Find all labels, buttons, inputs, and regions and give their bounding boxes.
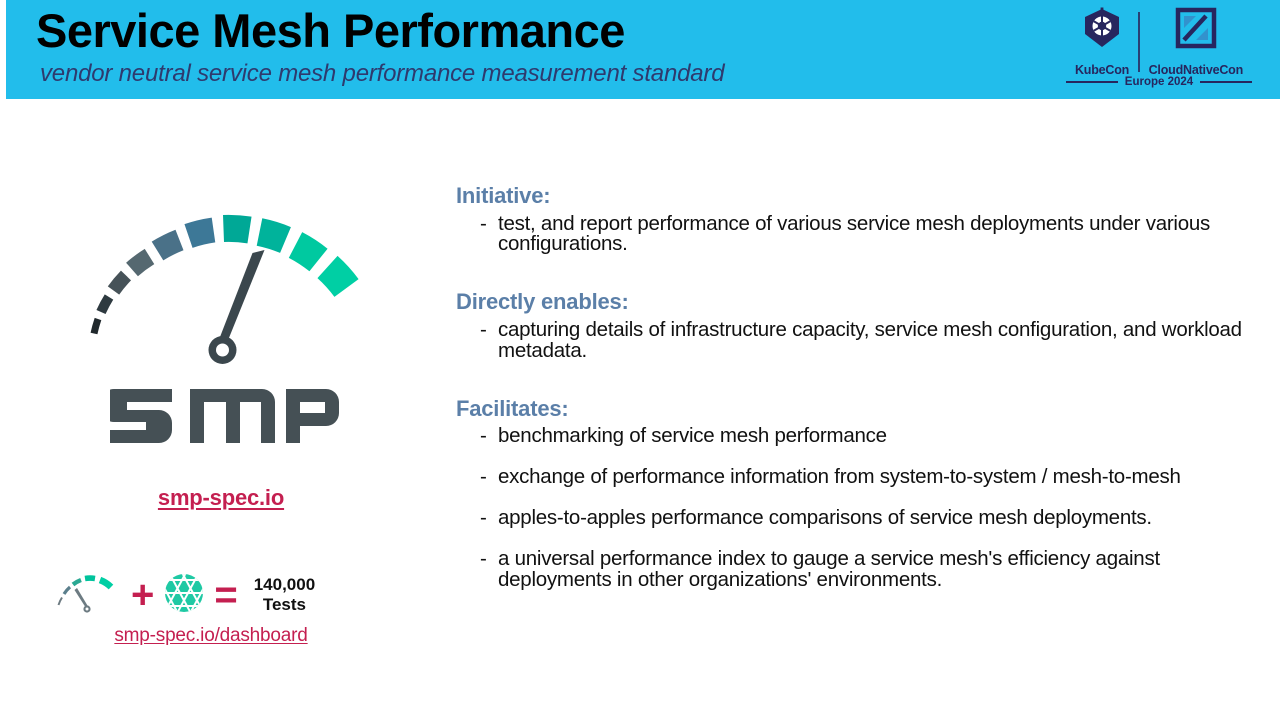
list-item: - benchmarking of service mesh performan…: [456, 426, 1256, 447]
section-initiative: Initiative: - test, and report performan…: [456, 182, 1256, 255]
slide-header-band: Service Mesh Performance vendor neutral …: [6, 0, 1280, 99]
bullet-marker: -: [456, 549, 498, 570]
list-item: - test, and report performance of variou…: [456, 214, 1256, 256]
tests-formula-row: + =: [55, 565, 365, 625]
bullet-marker: -: [456, 508, 498, 529]
small-gauge-icon: [55, 572, 121, 619]
cloudnativecon-label: CloudNativeCon: [1149, 63, 1243, 77]
section-heading: Directly enables:: [456, 288, 1256, 316]
bullet-text: benchmarking of service mesh performance: [498, 426, 1256, 447]
tests-count: 140,000 Tests: [254, 575, 315, 614]
event-year-row: Europe 2024: [1050, 76, 1268, 88]
bullet-text: apples-to-apples performance comparisons…: [498, 508, 1256, 529]
tests-count-number: 140,000: [254, 575, 315, 595]
left-branding-column: smp-spec.io +: [0, 100, 440, 720]
section-heading: Facilitates:: [456, 395, 1256, 423]
smp-gauge-icon: [75, 200, 370, 365]
spacer: [456, 255, 1256, 288]
spacer: [456, 362, 1256, 395]
spacer: [456, 529, 1256, 549]
kubecon-cloudnativecon-logo: KubeCon CloudNativeCon Europe 2024: [1050, 6, 1268, 94]
logo-divider: [1138, 12, 1140, 72]
bullet-list: - benchmarking of service mesh performan…: [456, 426, 1256, 591]
meshery-mesh-icon: [164, 573, 204, 618]
page-title: Service Mesh Performance: [36, 3, 625, 58]
bullet-marker: -: [456, 467, 498, 488]
section-directly-enables: Directly enables: - capturing details of…: [456, 288, 1256, 361]
kubernetes-helm-icon: [1078, 6, 1126, 59]
spacer: [456, 488, 1256, 508]
equals-operator: =: [214, 575, 237, 615]
cncf-square-icon: [1172, 6, 1220, 59]
cloudnativecon-lockup: CloudNativeCon: [1140, 6, 1252, 77]
rule-left: [1066, 81, 1118, 83]
list-item: - capturing details of infrastructure ca…: [456, 320, 1256, 362]
list-item: - a universal performance index to gauge…: [456, 549, 1256, 591]
bullet-list: - capturing details of infrastructure ca…: [456, 320, 1256, 362]
logo-marks-row: KubeCon CloudNativeCon: [1050, 6, 1268, 77]
tests-count-label: Tests: [263, 595, 306, 615]
list-item: - apples-to-apples performance compariso…: [456, 508, 1256, 529]
list-item: - exchange of performance information fr…: [456, 467, 1256, 488]
smp-wordmark: [110, 375, 340, 450]
bullet-text: exchange of performance information from…: [498, 467, 1256, 488]
rule-right: [1200, 81, 1252, 83]
event-year-label: Europe 2024: [1125, 76, 1193, 88]
page-subtitle: vendor neutral service mesh performance …: [40, 60, 724, 88]
plus-operator: +: [131, 575, 154, 615]
spacer: [456, 447, 1256, 467]
bullet-text: test, and report performance of various …: [498, 214, 1256, 256]
bullet-marker: -: [456, 426, 498, 447]
bullet-text: a universal performance index to gauge a…: [498, 549, 1256, 591]
kubecon-label: KubeCon: [1075, 63, 1129, 77]
bullet-marker: -: [456, 320, 498, 341]
bullet-marker: -: [456, 214, 498, 235]
kubecon-lockup: KubeCon: [1066, 6, 1138, 77]
bullet-text: capturing details of infrastructure capa…: [498, 320, 1256, 362]
section-facilitates: Facilitates: - benchmarking of service m…: [456, 395, 1256, 591]
section-heading: Initiative:: [456, 182, 1256, 210]
content-column: Initiative: - test, and report performan…: [456, 182, 1256, 591]
smp-dashboard-link[interactable]: smp-spec.io/dashboard: [0, 625, 422, 647]
bullet-list: - test, and report performance of variou…: [456, 214, 1256, 256]
smp-spec-link[interactable]: smp-spec.io: [0, 485, 442, 511]
